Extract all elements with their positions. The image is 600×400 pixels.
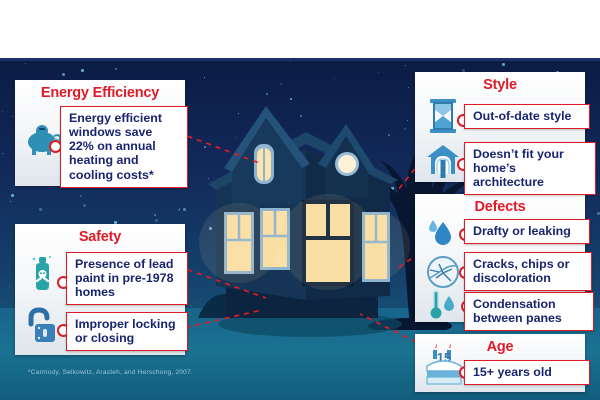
panel-heading-defects: Defects	[415, 194, 585, 215]
panel-heading-safety: Safety	[15, 224, 185, 245]
label-condensation[interactable]: Condensation between panes	[464, 292, 594, 331]
panel-heading-energy-efficiency: Energy Efficiency	[15, 80, 185, 101]
label-cracks-chips[interactable]: Cracks, chips or discoloration	[464, 252, 592, 291]
label-out-of-date-style[interactable]: Out-of-date style	[464, 104, 590, 129]
water-drops-icon	[425, 216, 457, 248]
house-architecture-icon	[423, 140, 463, 180]
header-divider	[0, 58, 600, 61]
footnote: *Carmody, Selkowitz, Arasteh, and Hersch…	[28, 369, 193, 376]
label-architecture-fit[interactable]: Doesn’t fit your home’s architecture	[464, 142, 596, 195]
label-energy-savings[interactable]: Energy efficient windows save 22% on ann…	[60, 106, 188, 188]
cracked-glass-icon	[423, 252, 463, 292]
infographic: Reasons to Replace Your Windows THE SPEC…	[0, 0, 600, 400]
hourglass-icon	[423, 96, 463, 136]
panel-heading-style: Style	[415, 72, 585, 93]
label-improper-locking[interactable]: Improper locking or closing	[66, 312, 188, 351]
header-bar	[0, 0, 600, 60]
birthday-cake-icon: 15	[423, 344, 465, 388]
label-lead-paint[interactable]: Presence of lead paint in pre-1978 homes	[66, 252, 188, 305]
label-drafty-leaking[interactable]: Drafty or leaking	[464, 219, 590, 244]
open-padlock-icon	[23, 306, 63, 346]
poison-bottle-icon	[23, 254, 63, 294]
thermometer-icon	[425, 288, 459, 322]
label-15-years-old[interactable]: 15+ years old	[464, 360, 590, 385]
